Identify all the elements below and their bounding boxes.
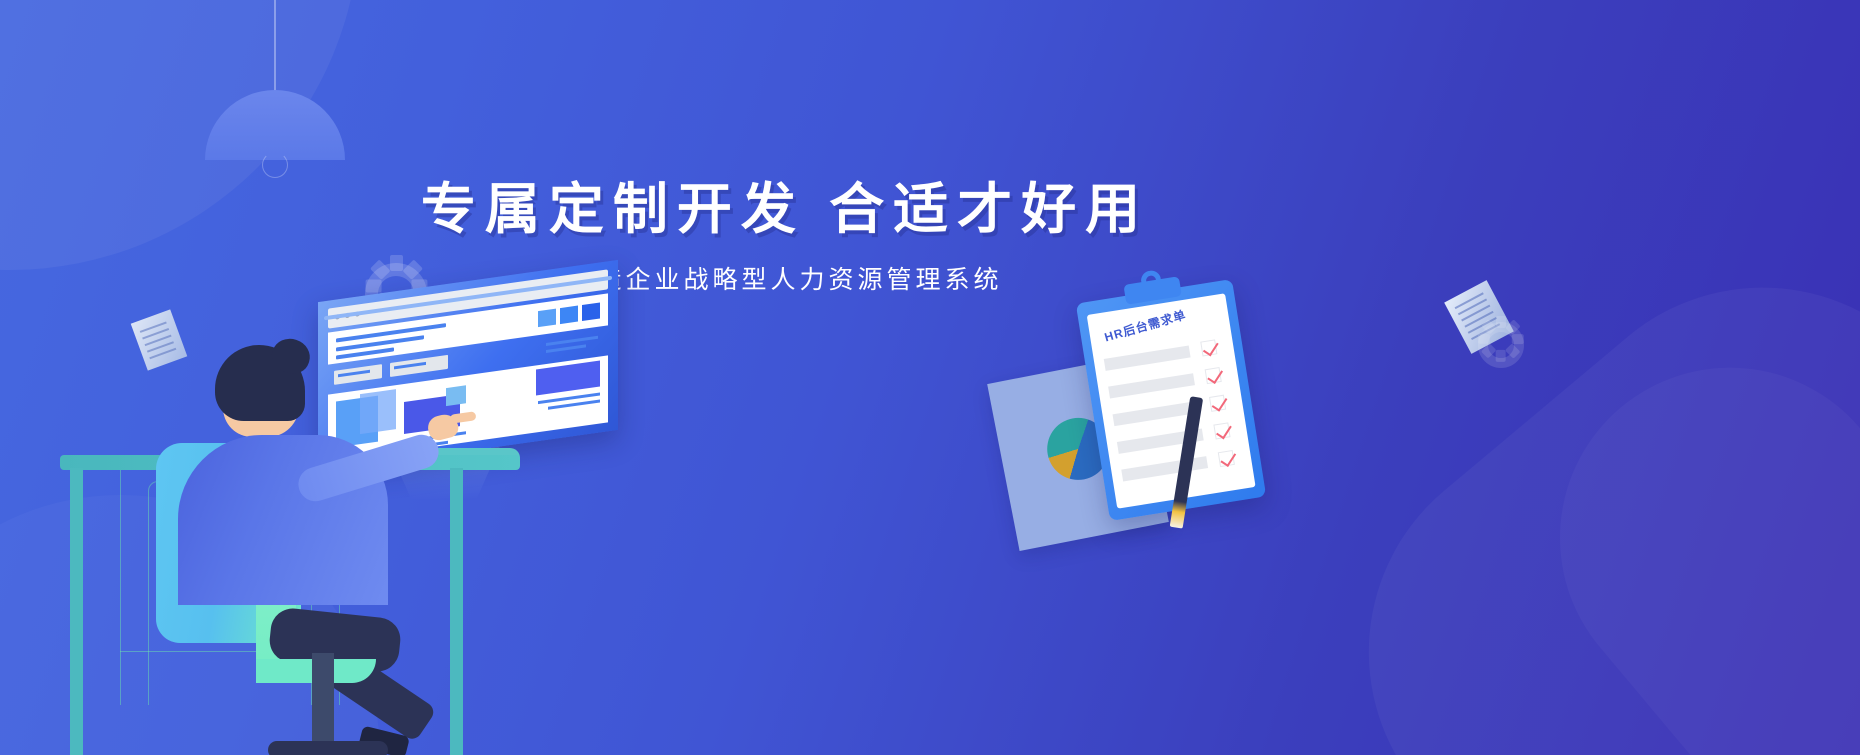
clipboard: HR后台需求单 [1076, 279, 1266, 521]
monitor-screen [318, 260, 618, 472]
gear-tooth [365, 279, 381, 292]
clipboard-title: HR后台需求单 [1102, 306, 1188, 346]
illustration-hr-clipboard: HR后台需求单 [1000, 270, 1560, 670]
screen-chip [390, 355, 448, 377]
floating-document-icon [131, 309, 188, 370]
checklist-row [1121, 456, 1208, 481]
hero-banner: 专属定制开发 合适才好用 打造企业战略型人力资源管理系统 [0, 0, 1860, 755]
office-chair-base [268, 741, 388, 755]
chip-line [338, 370, 370, 377]
check-icon [1216, 422, 1232, 439]
hero-headline: 专属定制开发 合适才好用 [0, 178, 1570, 241]
gear-icon-right [1478, 322, 1524, 368]
gear-tooth [390, 255, 403, 271]
content-card [446, 385, 466, 406]
desk-leg [70, 468, 83, 755]
check-icon [1203, 339, 1219, 356]
color-swatch [538, 309, 556, 328]
check-icon [1207, 367, 1223, 384]
color-swatch [560, 306, 578, 325]
illustration-developer-at-desk [60, 255, 620, 755]
gear-tooth [1478, 334, 1490, 344]
checklist-row [1108, 373, 1195, 398]
checkbox [1200, 339, 1217, 356]
office-chair-post [312, 653, 334, 749]
screen-chip [546, 333, 602, 355]
checkbox [1205, 367, 1222, 384]
lamp-shade [205, 90, 345, 160]
check-icon [1212, 394, 1228, 411]
gear-tooth [1496, 316, 1506, 328]
content-card [536, 360, 600, 395]
gear-tooth [1496, 350, 1506, 362]
check-icon [1220, 450, 1236, 467]
lamp-bulb [262, 152, 288, 178]
chip-line [394, 362, 426, 369]
checkbox [1209, 395, 1226, 412]
lamp-cord [274, 0, 276, 93]
checkbox [1218, 450, 1235, 467]
content-card [360, 389, 396, 434]
chip-line [546, 336, 598, 346]
color-swatch [582, 302, 600, 321]
hanging-lamp-icon [205, 0, 345, 170]
desk-leg [450, 468, 463, 755]
screen-chip [334, 364, 382, 385]
gear-tooth [1512, 334, 1524, 344]
checkbox [1213, 422, 1230, 439]
checklist-row [1104, 346, 1191, 371]
chip-line [546, 344, 586, 353]
